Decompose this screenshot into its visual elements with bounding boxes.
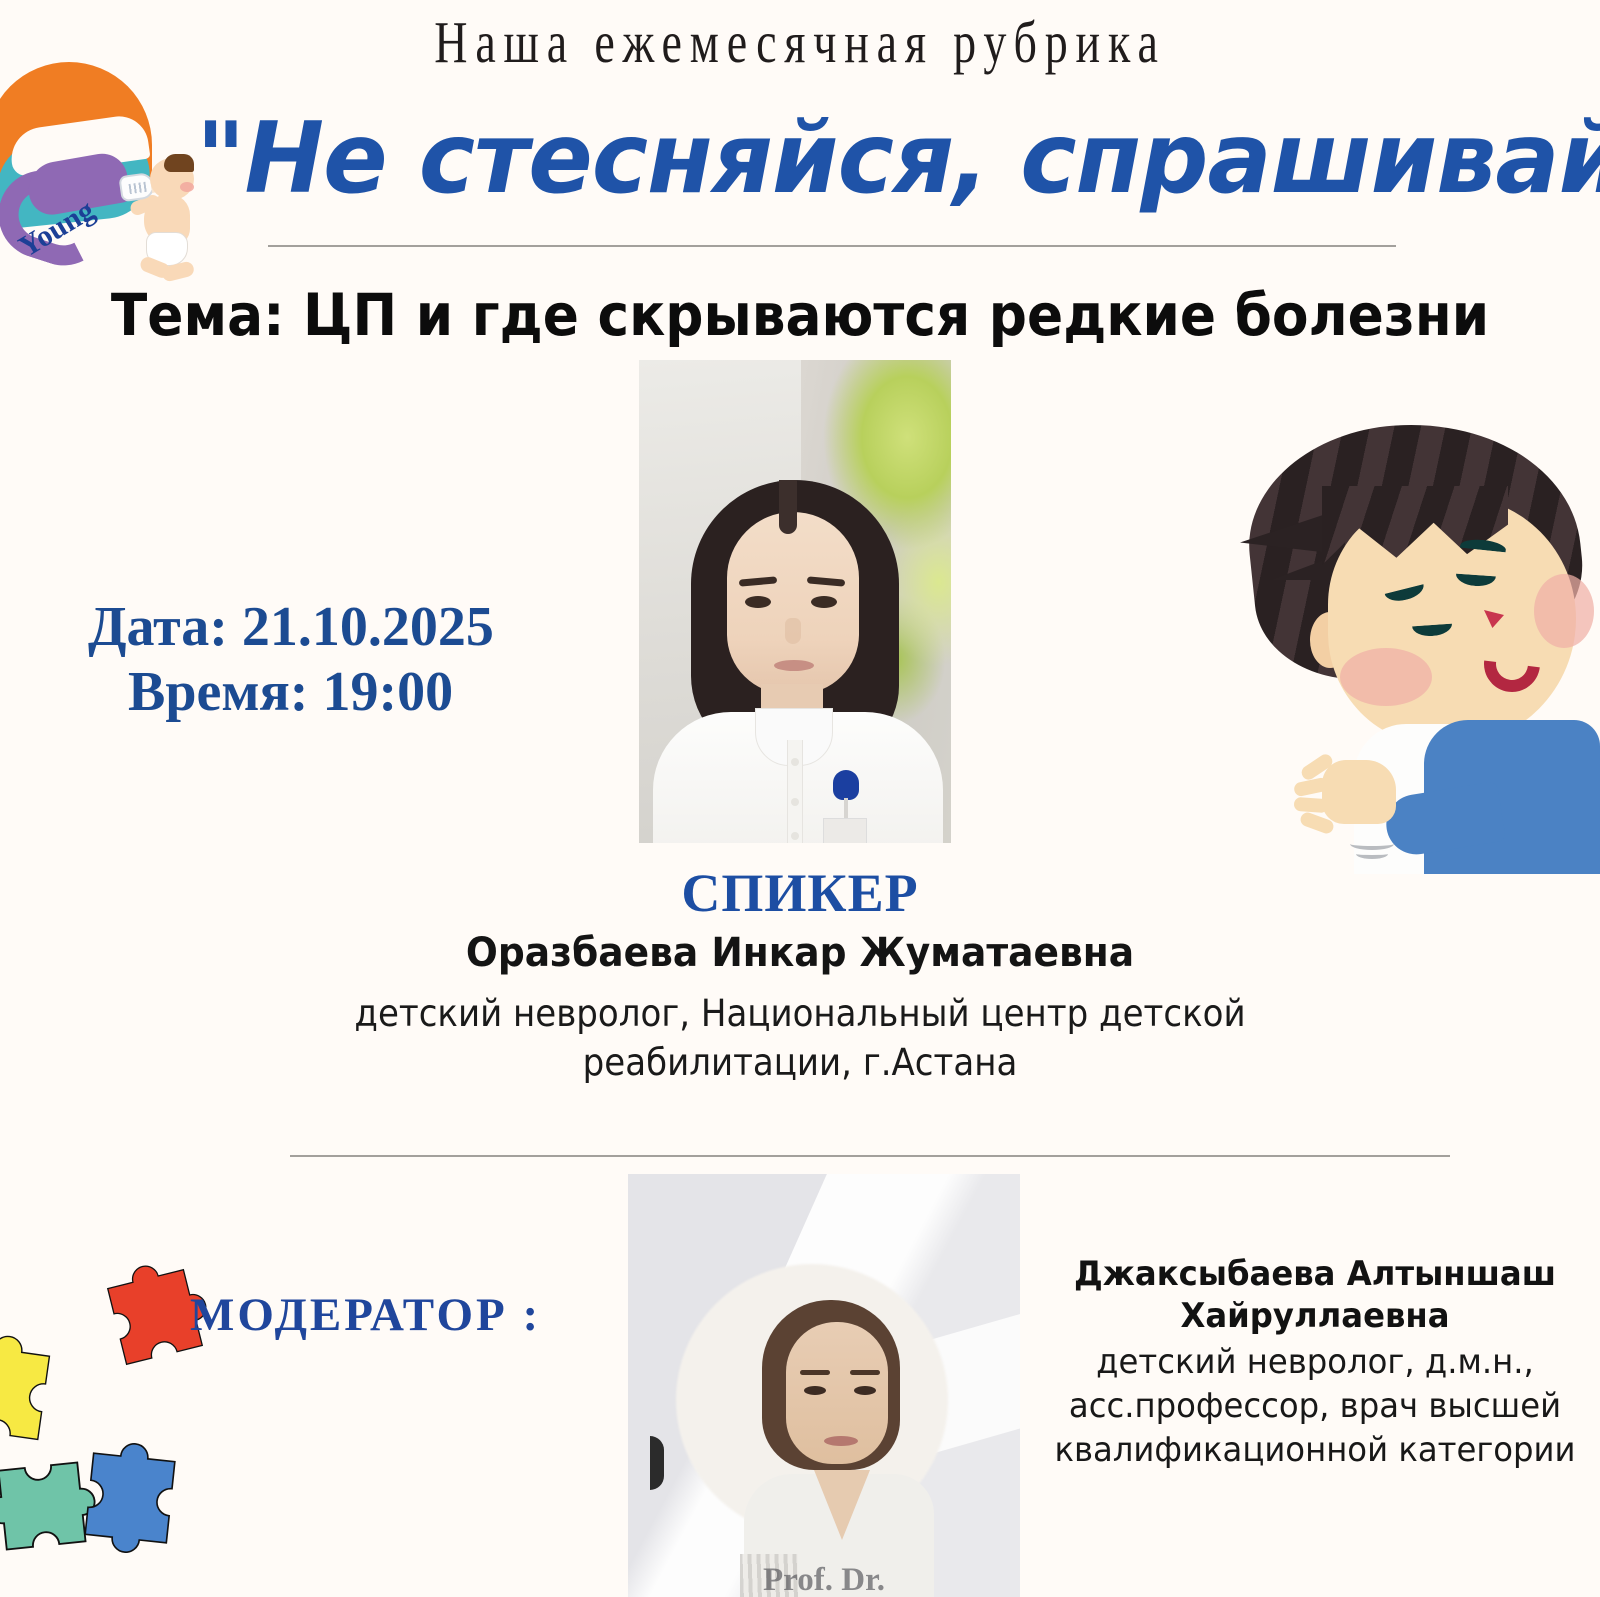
speaker-badge-card	[823, 818, 867, 843]
cartoon-boy-illustration	[1244, 424, 1600, 874]
boy-motion-lines	[1350, 838, 1394, 860]
moderator-eye-right	[854, 1386, 876, 1395]
speaker-affiliation: детский невролог, Национальный центр дет…	[230, 990, 1371, 1088]
event-time: Время: 19:00	[80, 660, 550, 725]
baby-icon	[118, 150, 208, 296]
speaker-eye-left	[745, 596, 771, 608]
divider-top	[268, 245, 1396, 247]
young-logo: Young	[0, 62, 204, 262]
speaker-button	[791, 758, 799, 766]
speaker-badge-reel	[833, 770, 859, 800]
page-title: "Не стесняйся, спрашивай!"	[196, 102, 1486, 216]
moderator-brow-right	[850, 1370, 880, 1375]
moderator-photo: Prof. Dr.	[628, 1174, 1020, 1597]
moderator-role: детский невролог, д.м.н., асс.профессор,…	[1054, 1340, 1577, 1473]
speaker-button	[791, 798, 799, 806]
speaker-nose	[785, 618, 801, 644]
bottle-measure-lines	[129, 182, 147, 194]
boy-waving-hand	[1322, 760, 1396, 824]
puzzle-illustration	[0, 1300, 236, 1597]
moderator-eye-left	[804, 1386, 826, 1395]
baby-hair	[164, 154, 194, 172]
moderator-photo-edge	[650, 1436, 664, 1490]
divider-bottom	[290, 1155, 1450, 1157]
speaker-hair-part	[779, 480, 797, 534]
moderator-name: Джаксыбаева Алтыншаш Хайруллаевна	[1054, 1253, 1577, 1337]
baby-cheek	[180, 182, 194, 192]
speaker-name: Оразбаева Инкар Жуматаевна	[48, 930, 1552, 976]
speaker-button	[791, 832, 799, 840]
moderator-mouth	[824, 1436, 858, 1446]
moderator-brow-left	[800, 1370, 830, 1375]
moderator-label: МОДЕРАТОР :	[190, 1288, 541, 1342]
event-date: Дата: 21.10.2025	[80, 595, 550, 660]
speaker-label: СПИКЕР	[0, 862, 1600, 924]
event-datetime: Дата: 21.10.2025 Время: 19:00	[80, 595, 550, 725]
poster-canvas: Наша ежемесячная рубрика Young "Не стесн…	[0, 0, 1600, 1597]
speaker-placket	[787, 740, 803, 843]
boy-blush-right	[1534, 574, 1594, 648]
puzzle-piece-blue	[62, 1430, 198, 1566]
page-kicker: Наша ежемесячная рубрика	[176, 8, 1424, 77]
moderator-photo-caption: Prof. Dr.	[628, 1562, 1020, 1597]
topic-heading: Тема: ЦП и где скрываются редкие болезни	[64, 281, 1536, 349]
speaker-eye-right	[811, 596, 837, 608]
motion-line	[1356, 849, 1388, 859]
speaker-mouth	[774, 660, 814, 671]
speaker-photo	[639, 360, 951, 843]
boy-blush-left	[1340, 648, 1432, 706]
